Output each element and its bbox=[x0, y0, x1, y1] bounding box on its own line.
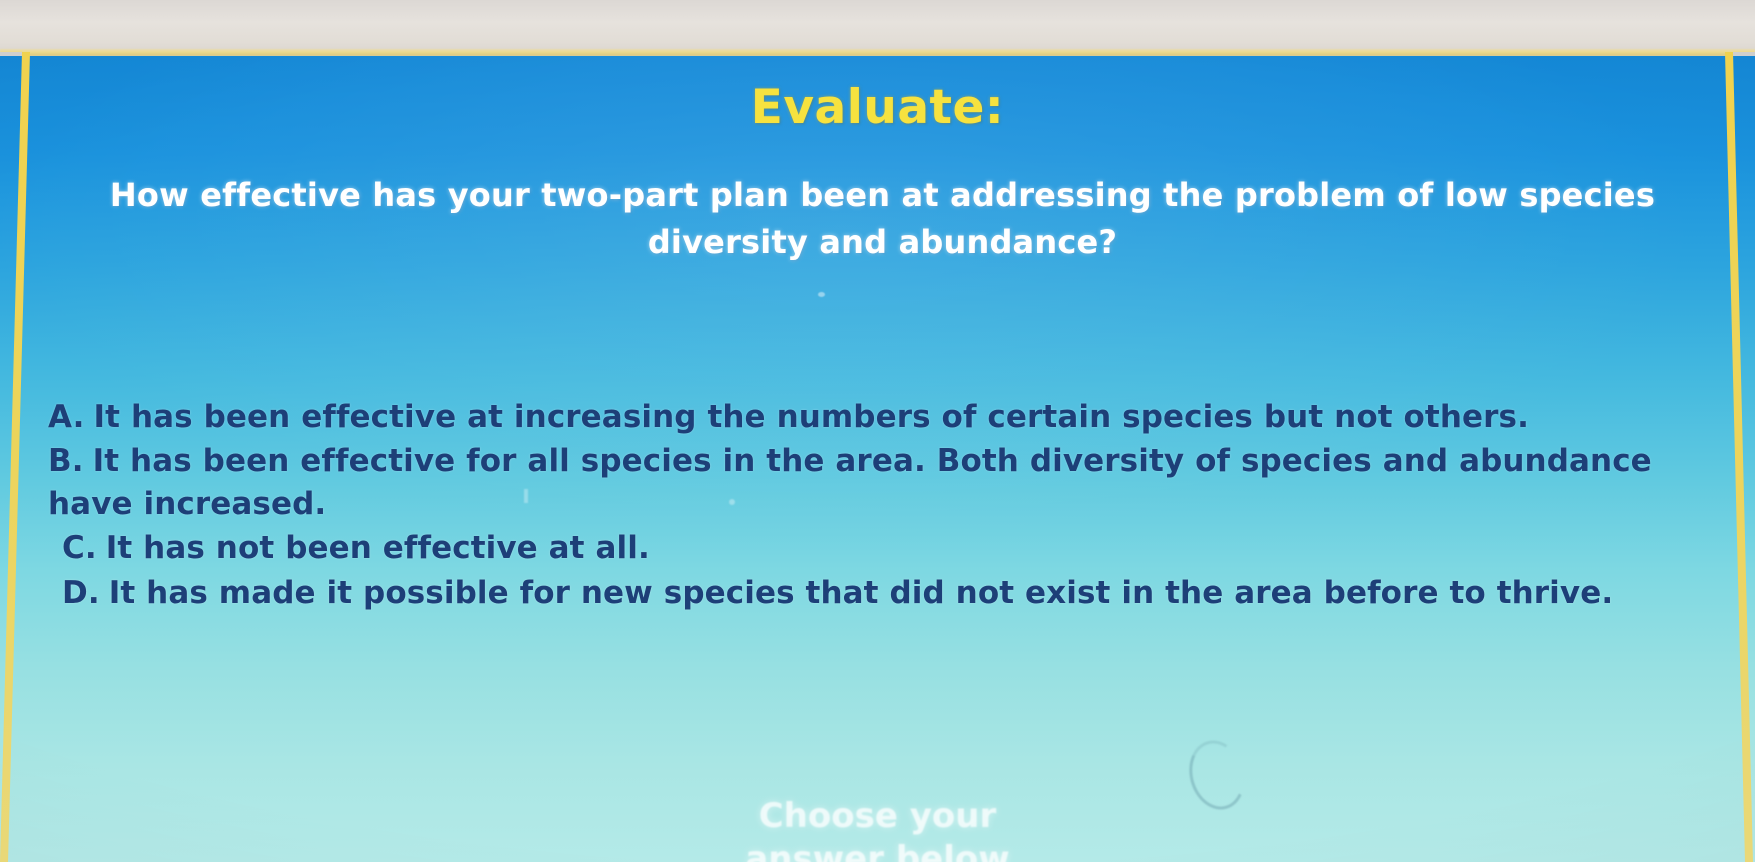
presentation-slide: Evaluate: How effective has your two-par… bbox=[0, 56, 1755, 862]
choose-answer-prompt-line2: answer below bbox=[0, 838, 1755, 862]
option-c-letter: C. bbox=[62, 530, 97, 566]
choose-answer-prompt-line1: Choose your bbox=[0, 795, 1755, 838]
option-b-letter: B. bbox=[48, 443, 84, 479]
slide-photo-screenshot: Evaluate: How effective has your two-par… bbox=[0, 0, 1755, 862]
answer-option-a[interactable]: A.It has been effective at increasing th… bbox=[48, 396, 1729, 438]
option-c-text: It has not been effective at all. bbox=[106, 530, 650, 566]
answer-option-c[interactable]: C.It has not been effective at all. bbox=[62, 527, 1729, 569]
option-d-letter: D. bbox=[62, 575, 100, 611]
option-b-text: It has been effective for all species in… bbox=[48, 443, 1652, 521]
choose-answer-prompt: Choose your answer below bbox=[0, 795, 1755, 862]
option-a-letter: A. bbox=[48, 399, 85, 435]
answer-option-b[interactable]: B.It has been effective for all species … bbox=[48, 440, 1729, 525]
projector-wall-top bbox=[0, 0, 1755, 56]
stray-speck-mark-icon bbox=[818, 292, 825, 297]
option-a-text: It has been effective at increasing the … bbox=[94, 399, 1529, 435]
option-d-text: It has made it possible for new species … bbox=[109, 575, 1614, 611]
page-title: Evaluate: bbox=[0, 80, 1755, 135]
stray-speck-mark-2-icon bbox=[729, 499, 735, 505]
answer-options-list: A.It has been effective at increasing th… bbox=[44, 396, 1729, 616]
question-text: How effective has your two-part plan bee… bbox=[70, 172, 1695, 265]
answer-option-d[interactable]: D.It has made it possible for new specie… bbox=[62, 572, 1729, 614]
stray-tick-mark-icon bbox=[524, 489, 528, 503]
